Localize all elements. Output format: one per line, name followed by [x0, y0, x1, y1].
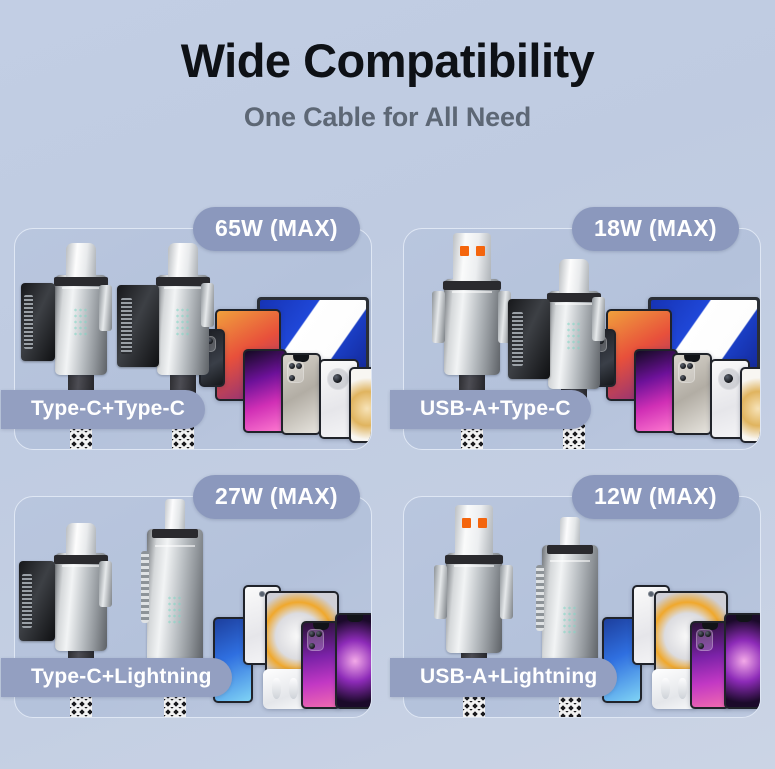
folded-plug-flap [117, 285, 159, 367]
device-cluster [213, 577, 369, 713]
compatibility-card-grid: 65W (MAX) Type-C+Type-C [14, 228, 761, 753]
device-phone-titanium [281, 353, 321, 435]
device-phone-titanium [672, 353, 712, 435]
usb-contact-pin [462, 518, 471, 528]
folded-plug-flap [19, 561, 55, 641]
wattage-badge: 65W (MAX) [193, 207, 360, 251]
card-type-c-to-lightning[interactable]: 27W (MAX) Type-C+Lightning [14, 496, 372, 718]
header: Wide Compatibility One Cable for All Nee… [0, 0, 775, 133]
card-type-c-to-type-c[interactable]: 65W (MAX) Type-C+Type-C [14, 228, 372, 450]
page-subtitle: One Cable for All Need [0, 102, 775, 133]
connector-type-label: USB-A+Lightning [390, 658, 617, 697]
page-title: Wide Compatibility [0, 36, 775, 85]
device-phone-gold [349, 367, 371, 443]
wattage-badge: 12W (MAX) [572, 475, 739, 519]
wattage-badge: 18W (MAX) [572, 207, 739, 251]
device-phone-xpurple [724, 613, 760, 709]
card-usb-a-to-lightning[interactable]: 12W (MAX) USB-A+Lightning [403, 496, 761, 718]
device-cluster [602, 577, 758, 713]
folded-plug-flap [21, 283, 55, 361]
usb-contact-pin [478, 518, 487, 528]
wattage-badge: 27W (MAX) [193, 475, 360, 519]
connector-type-label: Type-C+Type-C [1, 390, 205, 429]
card-usb-a-to-type-c[interactable]: 18W (MAX) USB-A+Type-C [403, 228, 761, 450]
usb-a-contacts [455, 505, 493, 557]
device-phone-gold [740, 367, 760, 443]
connector-type-label: Type-C+Lightning [1, 658, 232, 697]
folded-plug-flap [508, 299, 550, 379]
connector-type-label: USB-A+Type-C [390, 390, 591, 429]
usb-contact-pin [476, 246, 485, 256]
lightning-tip [165, 499, 185, 533]
usb-contact-pin [460, 246, 469, 256]
usb-a-contacts [453, 233, 491, 285]
device-phone-xpurple [335, 613, 371, 709]
